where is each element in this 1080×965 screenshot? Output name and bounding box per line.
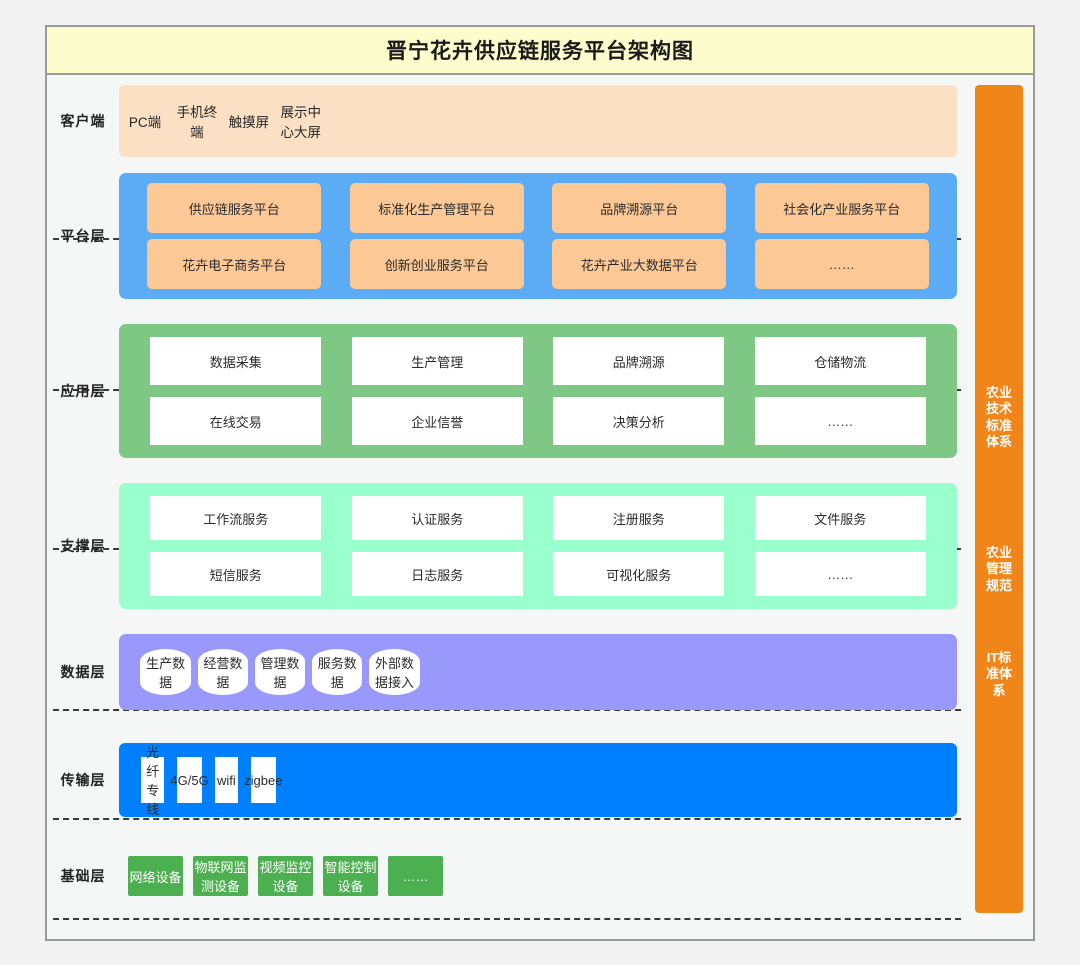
node-transmission[interactable]: zigbee xyxy=(251,757,276,803)
standards-item-it-standard: IT标准体系 xyxy=(975,650,1023,699)
layer-cell: 决策分析 xyxy=(538,397,740,445)
node-platform[interactable]: 花卉产业大数据平台 xyxy=(552,239,726,289)
layer-cell: 展示中心大屏 xyxy=(275,101,327,141)
layer-band-data: 生产数据经营数据管理数据服务数据外部数据接入 xyxy=(119,634,957,710)
node-application[interactable]: 数据采集 xyxy=(150,337,321,385)
layer-band-application: 数据采集生产管理品牌溯源仓储物流在线交易企业信誉决策分析…… xyxy=(119,324,957,458)
node-support[interactable]: 日志服务 xyxy=(352,552,523,596)
layer-cell: 企业信誉 xyxy=(337,397,539,445)
layer-row: 光纤专线4G/5Gwifizigbee xyxy=(135,757,282,803)
layer-platform: 平台层供应链服务平台标准化生产管理平台品牌溯源平台社会化产业服务平台花卉电子商务… xyxy=(47,173,969,299)
layer-application: 应用层数据采集生产管理品牌溯源仓储物流在线交易企业信誉决策分析…… xyxy=(47,324,969,458)
standards-item-agri-mgmt: 农业管理规范 xyxy=(975,545,1023,594)
node-platform[interactable]: 花卉电子商务平台 xyxy=(147,239,321,289)
layer-cell: zigbee xyxy=(244,757,282,803)
layer-row: 在线交易企业信誉决策分析…… xyxy=(135,397,941,445)
layer-row: PC端手机终端触摸屏展示中心大屏 xyxy=(119,101,327,141)
layer-row: 网络设备物联网监测设备视频监控设备智能控制设备…… xyxy=(123,856,448,896)
layer-cell: 创新创业服务平台 xyxy=(336,239,539,289)
layer-cell: …… xyxy=(740,397,942,445)
node-support[interactable]: 认证服务 xyxy=(352,496,523,540)
layer-cell: 花卉产业大数据平台 xyxy=(538,239,741,289)
layer-cell: 仓储物流 xyxy=(740,337,942,385)
node-support[interactable]: …… xyxy=(755,552,926,596)
node-support[interactable]: 短信服务 xyxy=(150,552,321,596)
node-application[interactable]: 在线交易 xyxy=(150,397,321,445)
layer-cell: 光纤专线 xyxy=(135,757,170,803)
layer-client: 客户端PC端手机终端触摸屏展示中心大屏 xyxy=(47,85,969,157)
layer-cell: 4G/5G xyxy=(170,757,208,803)
layer-band-infrastructure: 网络设备物联网监测设备视频监控设备智能控制设备…… xyxy=(119,853,957,899)
standards-item-agri-tech: 农业技术标准体系 xyxy=(975,385,1023,450)
layer-row: 数据采集生产管理品牌溯源仓储物流 xyxy=(135,337,941,385)
layer-cell: 视频监控设备 xyxy=(253,856,318,896)
layer-cell: PC端 xyxy=(119,101,171,141)
node-infrastructure[interactable]: 网络设备 xyxy=(128,856,183,896)
layer-cell: 品牌溯源 xyxy=(538,337,740,385)
layer-cell: 数据采集 xyxy=(135,337,337,385)
layer-cell: 日志服务 xyxy=(337,552,539,596)
layer-band-client: PC端手机终端触摸屏展示中心大屏 xyxy=(119,85,957,157)
node-application[interactable]: …… xyxy=(755,397,926,445)
node-platform[interactable]: 创新创业服务平台 xyxy=(350,239,524,289)
layer-cell: 经营数据 xyxy=(194,649,251,695)
page-title: 晋宁花卉供应链服务平台架构图 xyxy=(386,35,694,65)
layer-cell: 花卉电子商务平台 xyxy=(133,239,336,289)
layer-row: 短信服务日志服务可视化服务…… xyxy=(135,552,941,596)
layer-cell: 工作流服务 xyxy=(135,496,337,540)
node-data[interactable]: 外部数据接入 xyxy=(369,649,419,695)
node-platform[interactable]: …… xyxy=(755,239,929,289)
node-platform[interactable]: 品牌溯源平台 xyxy=(552,183,726,233)
node-client[interactable]: 手机终端 xyxy=(171,101,223,141)
layer-cell: 网络设备 xyxy=(123,856,188,896)
node-application[interactable]: 品牌溯源 xyxy=(553,337,724,385)
layer-label-infrastructure: 基础层 xyxy=(47,853,119,899)
node-application[interactable]: 决策分析 xyxy=(553,397,724,445)
node-data[interactable]: 经营数据 xyxy=(198,649,248,695)
node-client[interactable]: PC端 xyxy=(129,101,161,141)
layer-label-client: 客户端 xyxy=(47,85,119,157)
node-data[interactable]: 生产数据 xyxy=(140,649,190,695)
layer-cell: 管理数据 xyxy=(251,649,308,695)
node-transmission[interactable]: 光纤专线 xyxy=(141,757,164,803)
layer-cell: 服务数据 xyxy=(309,649,366,695)
layer-cell: …… xyxy=(741,239,944,289)
layer-cell: 手机终端 xyxy=(171,101,223,141)
node-infrastructure[interactable]: 物联网监测设备 xyxy=(193,856,248,896)
layer-cell: 智能控制设备 xyxy=(318,856,383,896)
layer-label-support: 支撑层 xyxy=(47,483,119,609)
layer-label-transmission: 传输层 xyxy=(47,743,119,817)
node-infrastructure[interactable]: 视频监控设备 xyxy=(258,856,313,896)
diagram-body: 客户端PC端手机终端触摸屏展示中心大屏平台层供应链服务平台标准化生产管理平台品牌… xyxy=(47,75,1033,941)
node-support[interactable]: 工作流服务 xyxy=(150,496,321,540)
layer-cell: 物联网监测设备 xyxy=(188,856,253,896)
layer-row: 花卉电子商务平台创新创业服务平台花卉产业大数据平台…… xyxy=(133,239,943,289)
layer-infrastructure: 基础层网络设备物联网监测设备视频监控设备智能控制设备…… xyxy=(47,853,969,899)
layer-row: 工作流服务认证服务注册服务文件服务 xyxy=(135,496,941,540)
layer-cell: 品牌溯源平台 xyxy=(538,183,741,233)
layer-cell: wifi xyxy=(209,757,244,803)
layer-data: 数据层生产数据经营数据管理数据服务数据外部数据接入 xyxy=(47,634,969,710)
layer-label-platform: 平台层 xyxy=(47,173,119,299)
node-support[interactable]: 文件服务 xyxy=(755,496,926,540)
node-client[interactable]: 展示中心大屏 xyxy=(275,101,327,141)
node-platform[interactable]: 社会化产业服务平台 xyxy=(755,183,929,233)
layer-row: 生产数据经营数据管理数据服务数据外部数据接入 xyxy=(137,649,423,695)
layer-row: 供应链服务平台标准化生产管理平台品牌溯源平台社会化产业服务平台 xyxy=(133,183,943,233)
layer-separator-6 xyxy=(53,918,961,920)
diagram-frame: 晋宁花卉供应链服务平台架构图 客户端PC端手机终端触摸屏展示中心大屏平台层供应链… xyxy=(45,25,1035,941)
node-data[interactable]: 服务数据 xyxy=(312,649,362,695)
layer-cell: …… xyxy=(383,856,448,896)
node-data[interactable]: 管理数据 xyxy=(255,649,305,695)
layer-cell: 外部数据接入 xyxy=(366,649,423,695)
node-support[interactable]: 注册服务 xyxy=(553,496,724,540)
layer-cell: 文件服务 xyxy=(740,496,942,540)
layer-cell: 生产管理 xyxy=(337,337,539,385)
layer-band-platform: 供应链服务平台标准化生产管理平台品牌溯源平台社会化产业服务平台花卉电子商务平台创… xyxy=(119,173,957,299)
node-platform[interactable]: 标准化生产管理平台 xyxy=(350,183,524,233)
layer-band-transmission: 光纤专线4G/5Gwifizigbee xyxy=(119,743,957,817)
layer-support: 支撑层工作流服务认证服务注册服务文件服务短信服务日志服务可视化服务…… xyxy=(47,483,969,609)
layer-label-application: 应用层 xyxy=(47,324,119,458)
node-client[interactable]: 触摸屏 xyxy=(229,101,270,141)
diagram-title-bar: 晋宁花卉供应链服务平台架构图 xyxy=(47,27,1033,75)
layer-cell: 在线交易 xyxy=(135,397,337,445)
layer-cell: 短信服务 xyxy=(135,552,337,596)
layer-cell: 社会化产业服务平台 xyxy=(741,183,944,233)
layer-cell: 注册服务 xyxy=(538,496,740,540)
node-infrastructure[interactable]: 智能控制设备 xyxy=(323,856,378,896)
layer-label-data: 数据层 xyxy=(47,634,119,710)
layer-cell: 认证服务 xyxy=(337,496,539,540)
node-transmission[interactable]: 4G/5G xyxy=(177,757,202,803)
layer-cell: …… xyxy=(740,552,942,596)
layer-transmission: 传输层光纤专线4G/5Gwifizigbee xyxy=(47,743,969,817)
node-application[interactable]: 仓储物流 xyxy=(755,337,926,385)
layer-cell: 触摸屏 xyxy=(223,101,275,141)
node-infrastructure[interactable]: …… xyxy=(388,856,443,896)
layer-cell: 供应链服务平台 xyxy=(133,183,336,233)
node-support[interactable]: 可视化服务 xyxy=(553,552,724,596)
node-platform[interactable]: 供应链服务平台 xyxy=(147,183,321,233)
standards-sidebar: 农业技术标准体系 农业管理规范 IT标准体系 xyxy=(975,85,1023,913)
node-application[interactable]: 企业信誉 xyxy=(352,397,523,445)
node-application[interactable]: 生产管理 xyxy=(352,337,523,385)
layer-cell: 生产数据 xyxy=(137,649,194,695)
layer-cell: 可视化服务 xyxy=(538,552,740,596)
layer-cell: 标准化生产管理平台 xyxy=(336,183,539,233)
layer-band-support: 工作流服务认证服务注册服务文件服务短信服务日志服务可视化服务…… xyxy=(119,483,957,609)
layer-stack: 客户端PC端手机终端触摸屏展示中心大屏平台层供应链服务平台标准化生产管理平台品牌… xyxy=(47,75,969,941)
layer-separator-5 xyxy=(53,818,961,820)
node-transmission[interactable]: wifi xyxy=(215,757,238,803)
